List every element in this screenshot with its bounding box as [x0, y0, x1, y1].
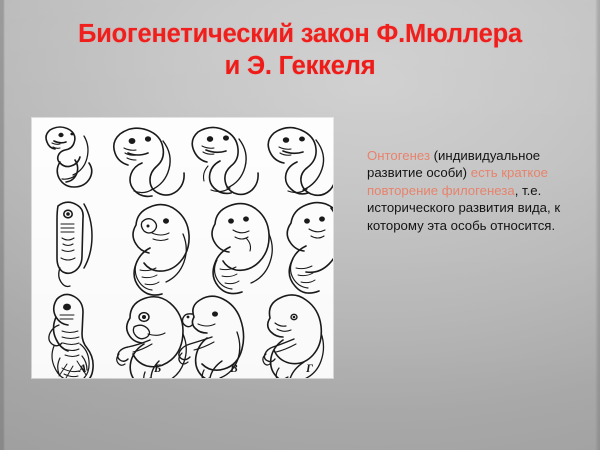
- body-run-0: Онтогенез: [367, 148, 430, 163]
- slide-canvas: Биогенетический закон Ф.Мюллера и Э. Гек…: [0, 0, 600, 450]
- page-title: Биогенетический закон Ф.Мюллера и Э. Гек…: [18, 18, 582, 82]
- body-text-block: Онтогенез (индивидуальное развитие особи…: [367, 147, 581, 234]
- haeckel-embryo-comparison-figure: А Б В Г: [32, 118, 333, 378]
- column-label-d: Г: [305, 363, 313, 375]
- column-label-b: Б: [153, 363, 161, 375]
- embryo-figure-panel: А Б В Г: [32, 118, 333, 378]
- column-label-a: А: [78, 363, 87, 375]
- column-label-c: В: [229, 363, 238, 375]
